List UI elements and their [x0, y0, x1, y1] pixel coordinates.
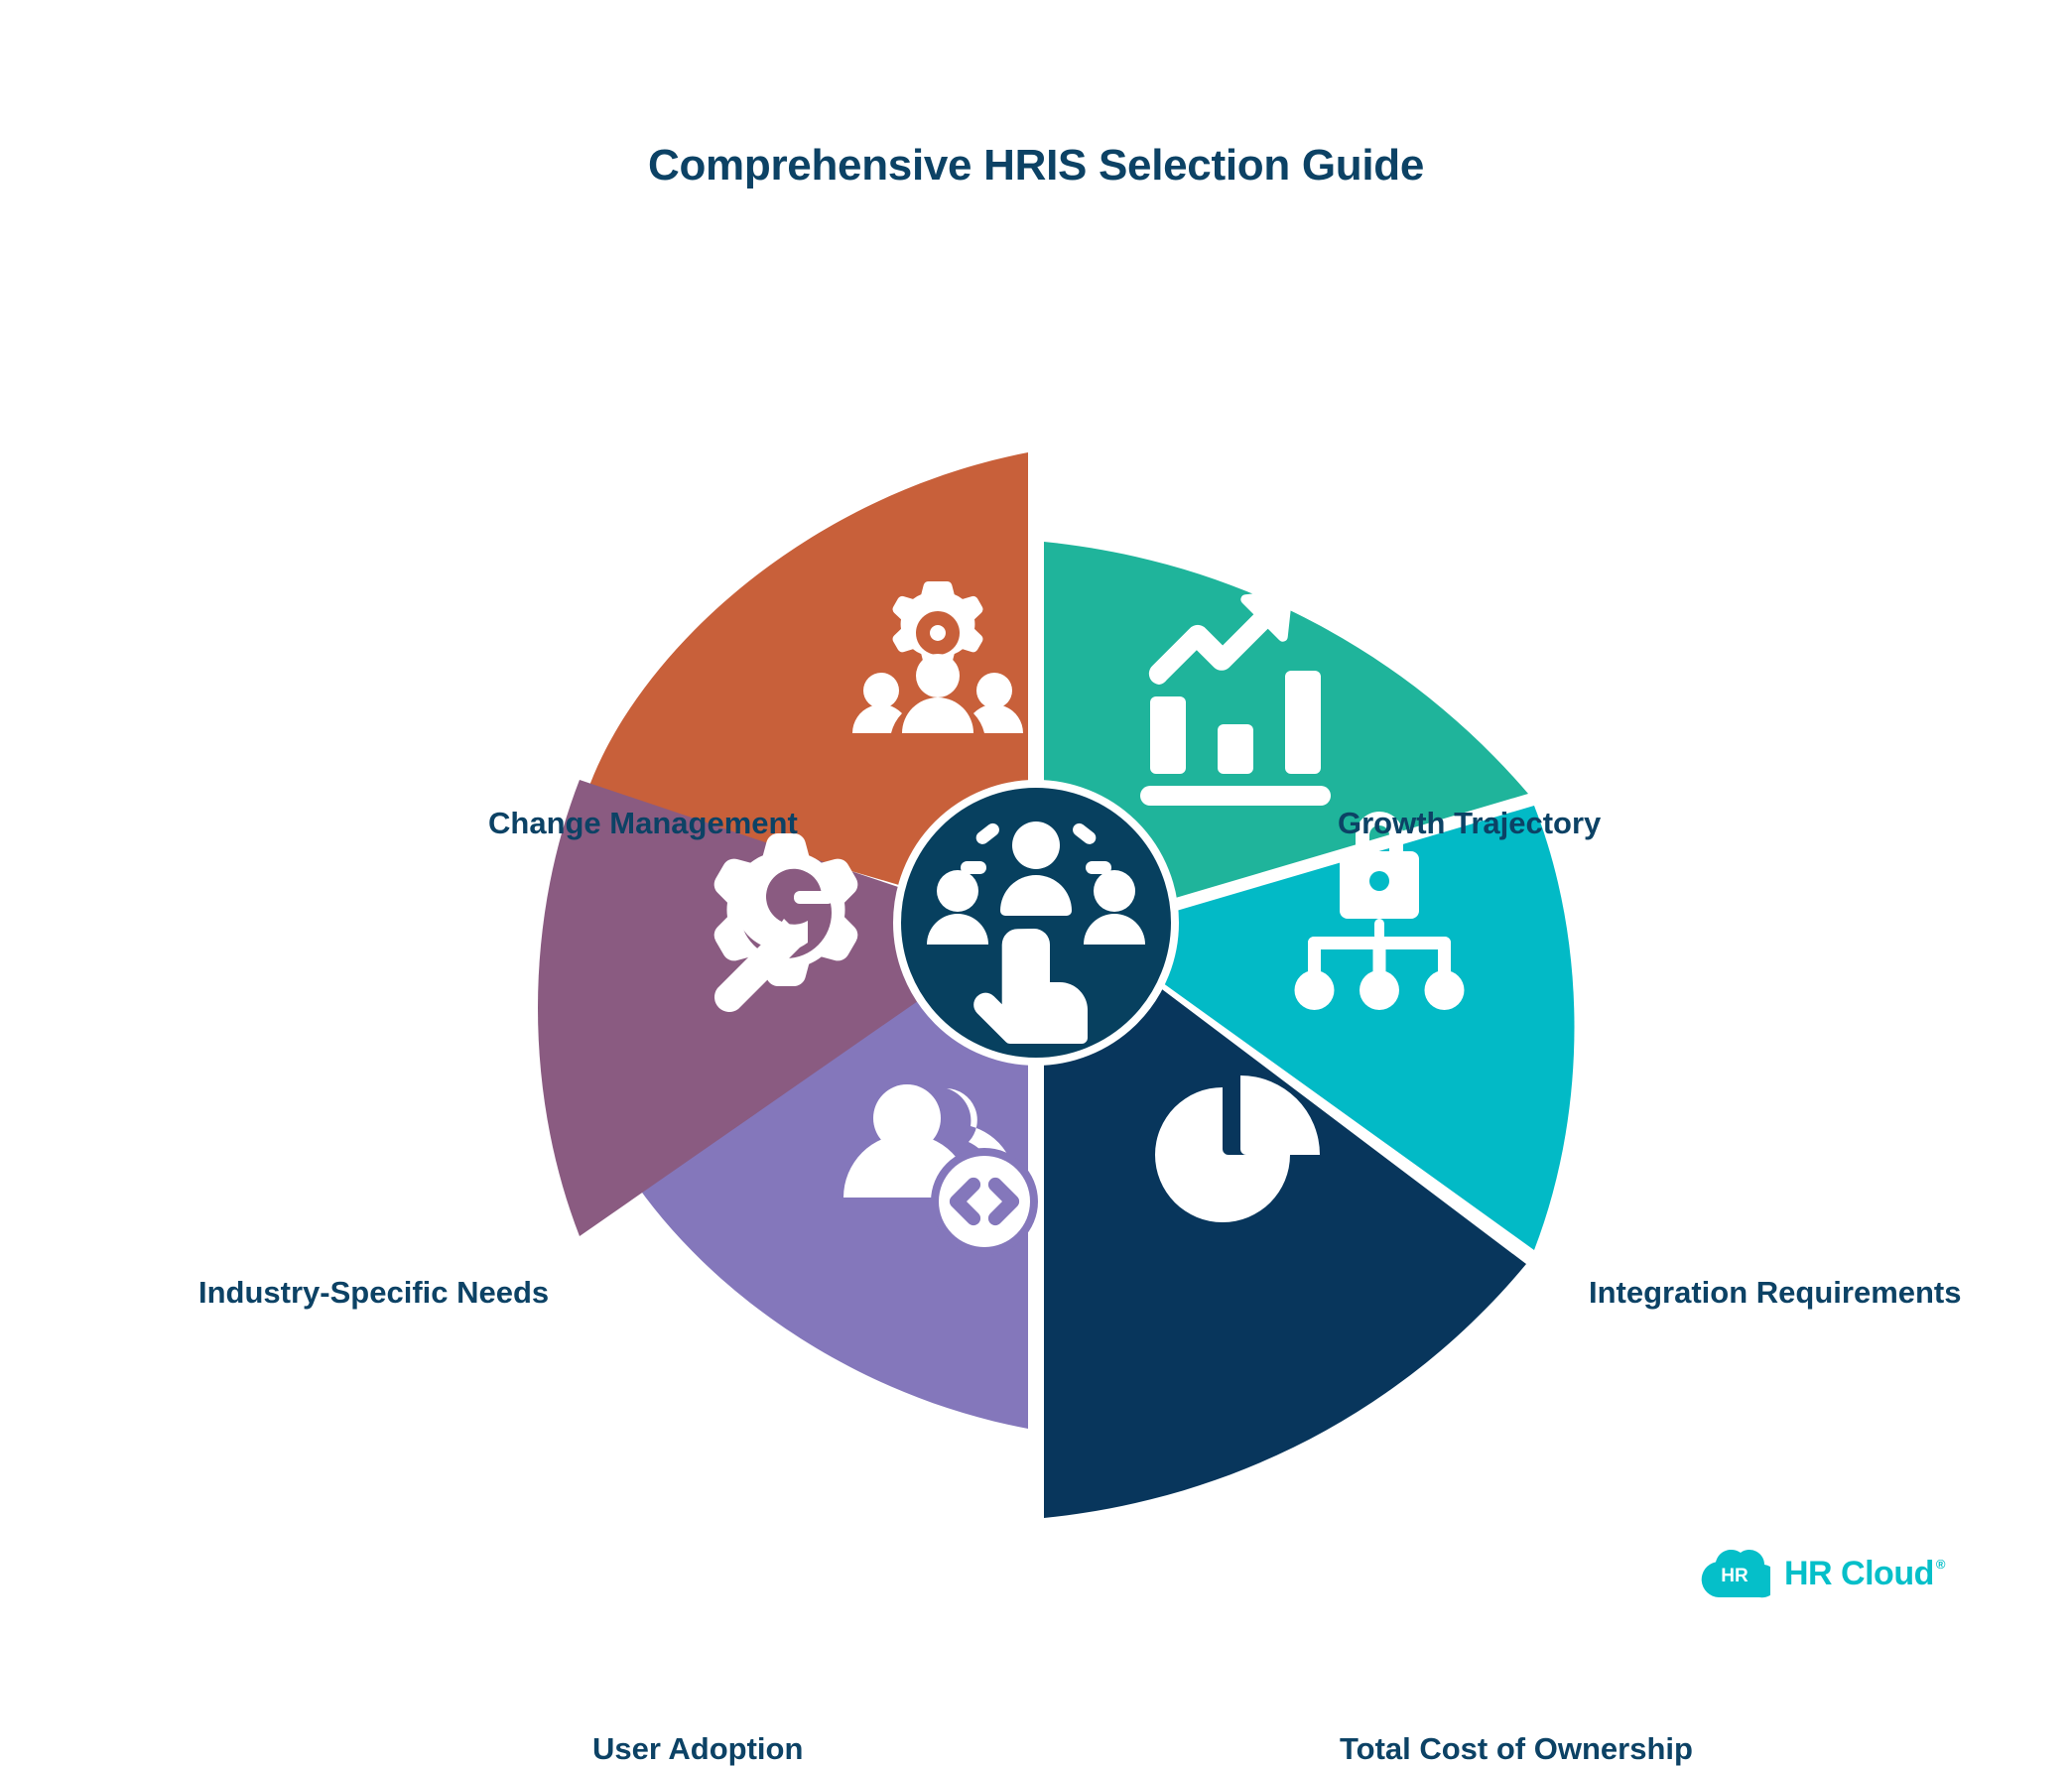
cloud-icon: HR — [1699, 1548, 1770, 1599]
hris-selection-wheel: Change Management Growth Trajectory Inte… — [0, 327, 2072, 1518]
page-title: Comprehensive HRIS Selection Guide — [0, 141, 2072, 190]
registered-mark: ® — [1936, 1558, 1945, 1571]
segment-label-adoption: User Adoption — [592, 1731, 803, 1767]
segment-label-growth: Growth Trajectory — [1338, 806, 1601, 841]
wheel-svg — [0, 327, 2072, 1518]
svg-text:HR: HR — [1721, 1566, 1748, 1586]
brand-name: HR Cloud ® — [1784, 1555, 1945, 1593]
brand-name-text: HR Cloud — [1784, 1555, 1934, 1593]
segment-label-change: Change Management — [488, 806, 798, 841]
hr-cloud-logo: HR HR Cloud ® — [1699, 1548, 1945, 1599]
segment-label-industry: Industry-Specific Needs — [198, 1275, 549, 1311]
segment-label-tco: Total Cost of Ownership — [1340, 1731, 1693, 1767]
segment-label-integration: Integration Requirements — [1589, 1275, 1962, 1311]
